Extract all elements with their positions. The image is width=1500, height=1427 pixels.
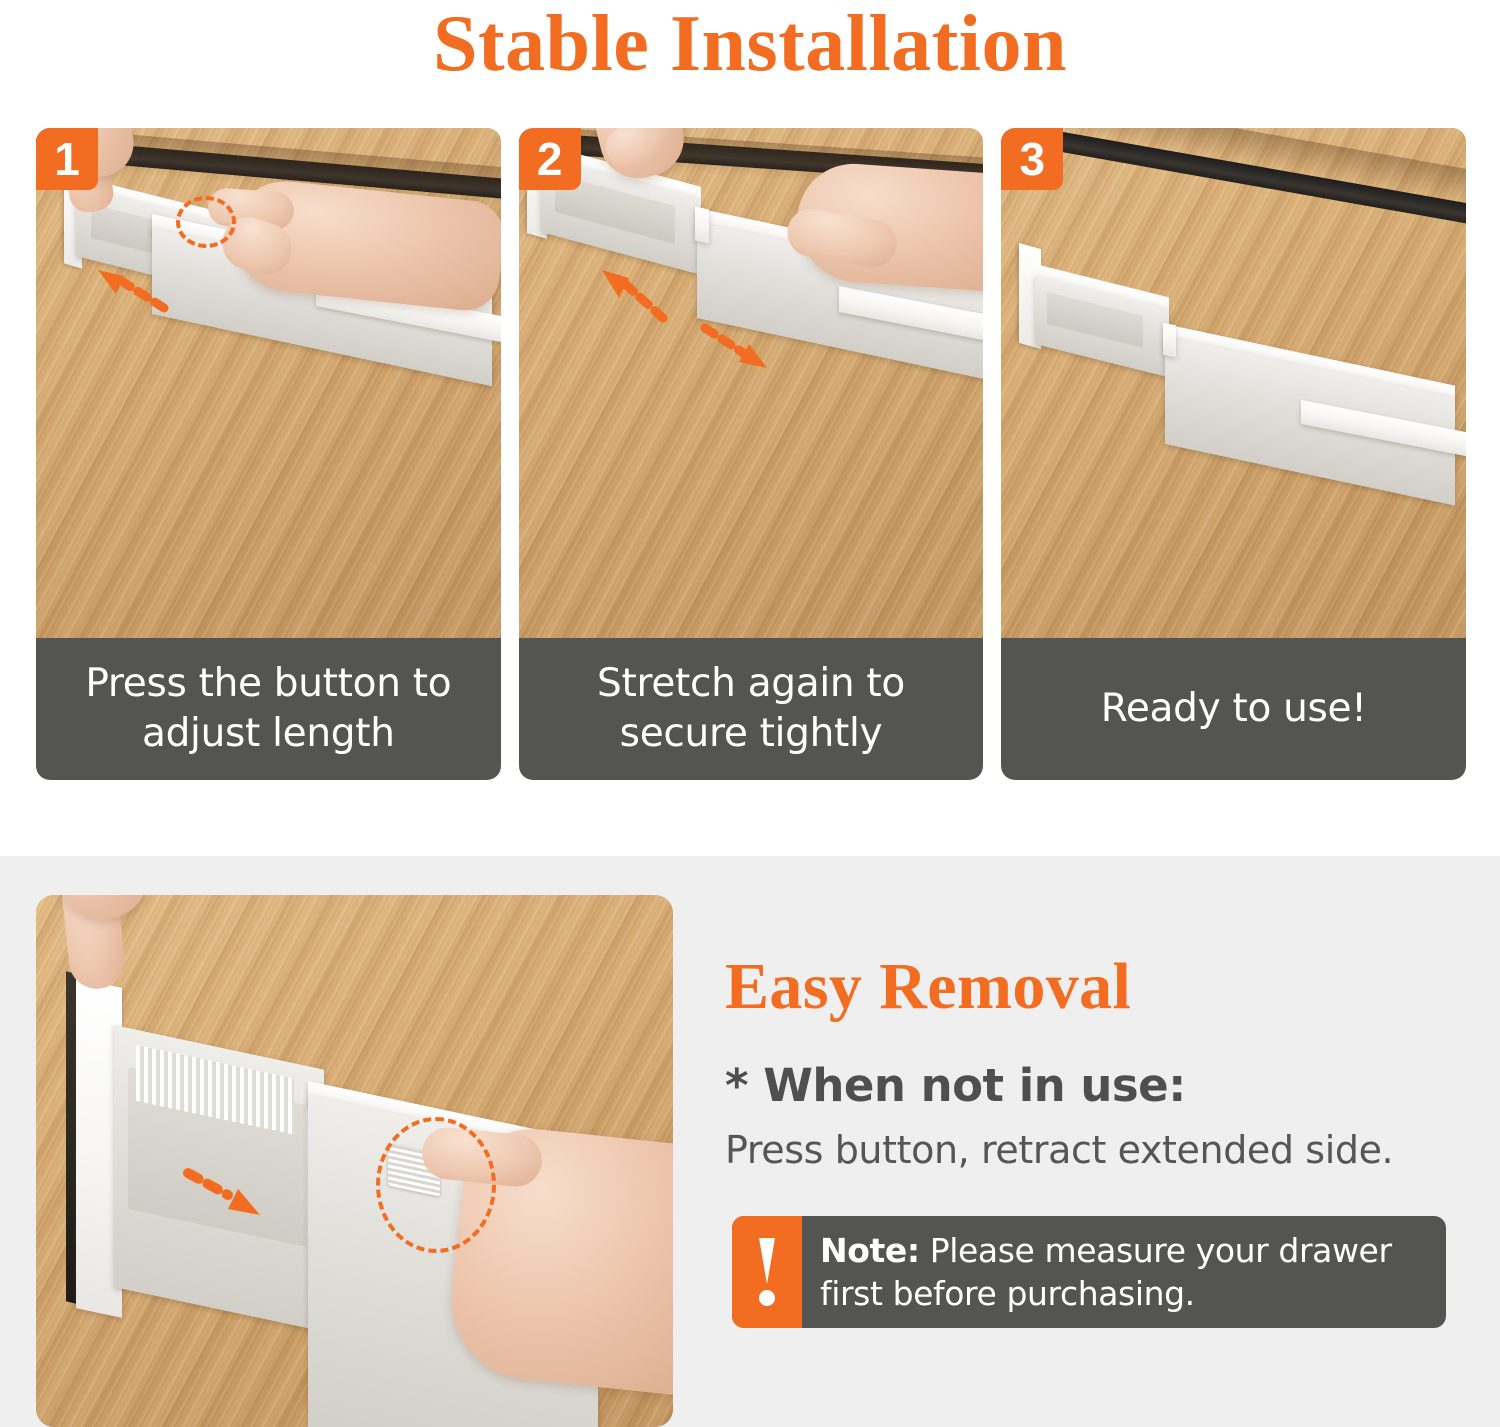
step-caption-2-line2: secure tightly [620, 711, 883, 756]
easy-removal-title: Easy Removal [725, 949, 1131, 1025]
divider-seam [695, 207, 709, 244]
step-badge-3: 3 [1001, 128, 1063, 190]
when-not-in-use-heading: * When not in use: [725, 1059, 1186, 1112]
step-badge-1: 1 [36, 128, 98, 190]
easy-removal-photo [36, 895, 673, 1427]
exclamation-bar [759, 1238, 775, 1284]
installation-steps-row: 1 Press the button to adjust length [36, 128, 1466, 780]
step-panel-3: 3 Ready to use! [1001, 128, 1466, 780]
dashed-arrow-right-icon [184, 1167, 264, 1221]
easy-removal-section: Easy Removal * When not in use: Press bu… [0, 856, 1500, 1427]
step-caption-1-text: Press the button to adjust length [85, 659, 451, 759]
step-caption-2: Stretch again to secure tightly [519, 638, 984, 780]
exclamation-icon [732, 1216, 802, 1328]
release-button-highlight-circle [176, 196, 236, 248]
step-caption-3: Ready to use! [1001, 638, 1466, 780]
dashed-arrow-up-left-icon [599, 268, 669, 324]
step-caption-1-line2: adjust length [142, 711, 395, 756]
step-caption-1: Press the button to adjust length [36, 638, 501, 780]
dashed-arrow-down-right-icon [701, 324, 771, 372]
stable-installation-section: Stable Installation [0, 0, 1500, 856]
step-2-photo [519, 128, 984, 638]
step-caption-1-line1: Press the button to [85, 661, 451, 706]
step-caption-2-line1: Stretch again to [597, 661, 905, 706]
dashed-arrow-left-icon [94, 268, 168, 314]
note-label: Note: [820, 1231, 920, 1270]
step-3-photo [1001, 128, 1466, 638]
note-text: Note: Please measure your drawer first b… [802, 1216, 1446, 1328]
release-button-highlight-circle [376, 1117, 496, 1253]
step-caption-3-text: Ready to use! [1101, 684, 1367, 734]
step-caption-3-line1: Ready to use! [1101, 686, 1367, 731]
step-badge-2: 2 [519, 128, 581, 190]
note-box: Note: Please measure your drawer first b… [732, 1216, 1446, 1328]
removal-instruction-text: Press button, retract extended side. [725, 1128, 1393, 1172]
easy-removal-text-block: Easy Removal * When not in use: Press bu… [722, 856, 1462, 1427]
step-1-photo [36, 128, 501, 638]
exclamation-dot [759, 1290, 775, 1306]
step-caption-2-text: Stretch again to secure tightly [597, 659, 905, 759]
step-panel-1: 1 Press the button to adjust length [36, 128, 501, 780]
step-panel-2: 2 Stretch again to secure tightly [519, 128, 984, 780]
divider-seam [1163, 323, 1176, 358]
page-title: Stable Installation [0, 0, 1500, 94]
